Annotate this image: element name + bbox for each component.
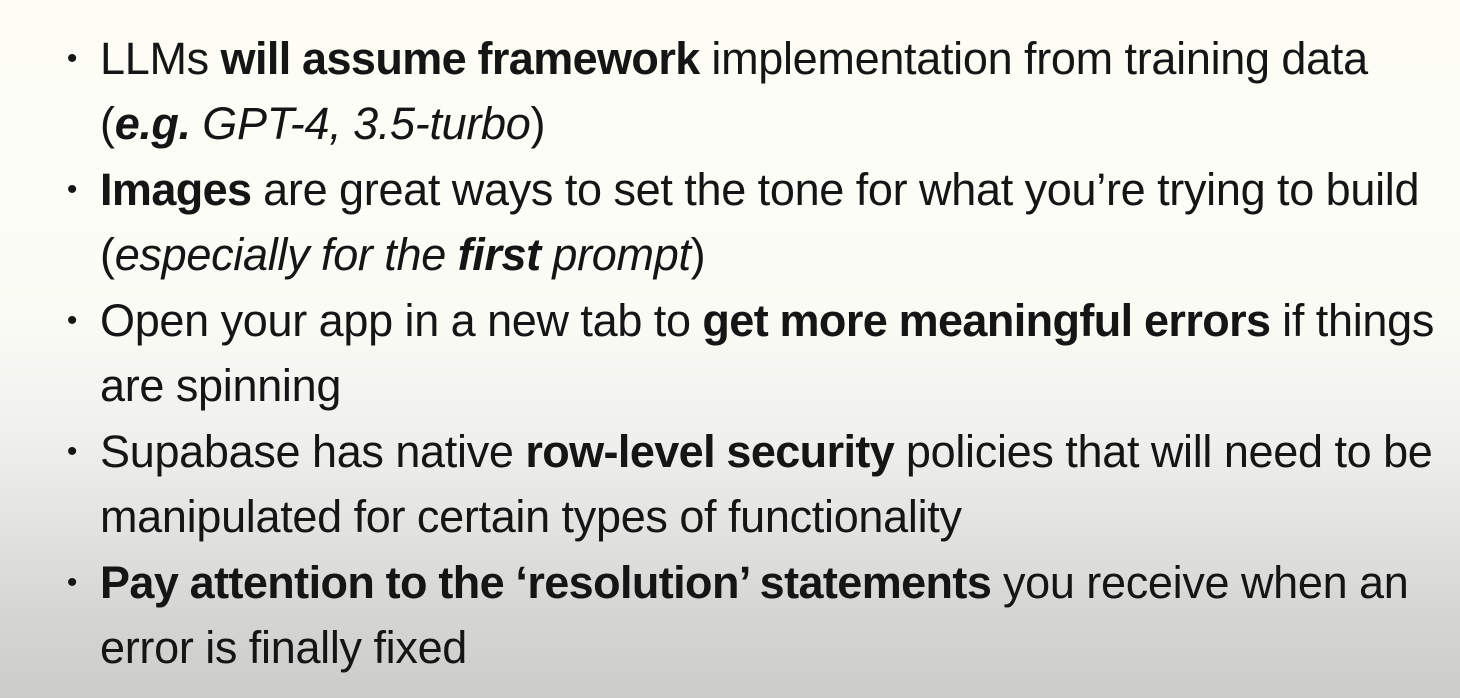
bullet-point-icon: • — [64, 550, 80, 615]
bullet-item-text: Images are great ways to set the tone fo… — [100, 157, 1440, 287]
text-segment-bold: Pay attention to the ‘resolution’ statem… — [100, 557, 991, 608]
bullet-item-text: Pay attention to the ‘resolution’ statem… — [100, 550, 1440, 680]
bullet-point-icon: • — [64, 157, 80, 222]
text-segment: Open your app in a new tab to — [100, 295, 702, 346]
text-segment: ) — [691, 229, 706, 280]
bullet-point-icon: • — [64, 419, 80, 484]
bullet-item-text: Open your app in a new tab to get more m… — [100, 288, 1440, 418]
list-item: • Supabase has native row-level security… — [52, 419, 1440, 549]
bullet-point-icon: • — [64, 26, 80, 91]
text-segment-italic: especially for the — [115, 229, 458, 280]
list-item: • Images are great ways to set the tone … — [52, 157, 1440, 287]
bullet-list: • LLMs will assume framework implementat… — [52, 26, 1440, 680]
text-segment-bold-italic: e.g. — [115, 98, 191, 149]
text-segment: LLMs — [100, 33, 221, 84]
bullet-point-icon: • — [64, 288, 80, 353]
list-item: • Open your app in a new tab to get more… — [52, 288, 1440, 418]
bullet-item-text: Supabase has native row-level security p… — [100, 419, 1440, 549]
text-segment-bold: Images — [100, 164, 251, 215]
text-segment: Supabase has native — [100, 426, 525, 477]
text-segment: ) — [531, 98, 546, 149]
text-segment-bold: get more meaningful errors — [702, 295, 1270, 346]
text-segment-bold: will assume framework — [221, 33, 700, 84]
text-segment-bold-italic: first — [458, 229, 541, 280]
slide-canvas: • LLMs will assume framework implementat… — [0, 0, 1460, 698]
list-item: • LLMs will assume framework implementat… — [52, 26, 1440, 156]
text-segment-bold: row-level security — [525, 426, 894, 477]
text-segment-italic: prompt — [541, 229, 691, 280]
list-item: • Pay attention to the ‘resolution’ stat… — [52, 550, 1440, 680]
text-segment-italic: GPT-4, 3.5-turbo — [191, 98, 531, 149]
bullet-item-text: LLMs will assume framework implementatio… — [100, 26, 1440, 156]
